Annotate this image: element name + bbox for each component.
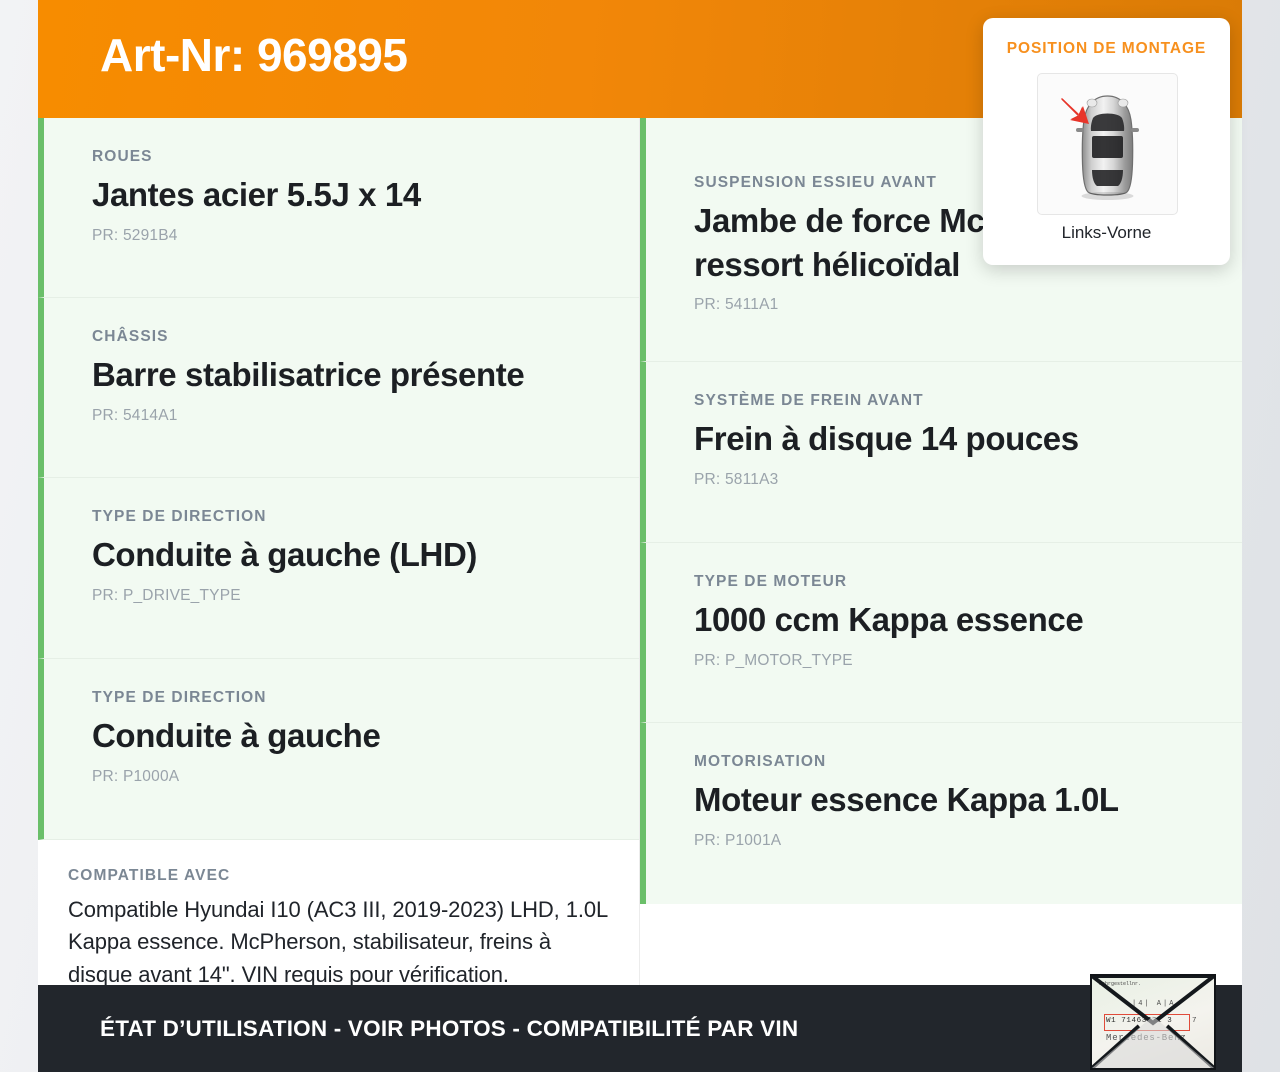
envelope-vin-document-icon: Fahrgestellnr. |4| A|A W1 71463J31 3 7 M… <box>1090 974 1216 1070</box>
spec-pr-code: PR: 5291B4 <box>92 227 613 245</box>
spec-pr-code: PR: 5411A1 <box>694 296 1216 314</box>
spec-pr-code: PR: P1000A <box>92 768 613 786</box>
spec-value: Jantes acier 5.5J x 14 <box>92 173 613 217</box>
position-arrow-icon <box>1061 98 1089 124</box>
rear-window <box>1092 170 1123 186</box>
spec-label: ROUES <box>92 148 613 166</box>
envelope-flap-icon <box>1092 976 1214 1068</box>
spec-value: Barre stabilisatrice présente <box>92 353 613 397</box>
spec-label: MOTORISATION <box>694 753 1216 771</box>
vin-document-background: Fahrgestellnr. |4| A|A W1 71463J31 3 7 M… <box>1092 976 1214 1068</box>
spec-pr-code: PR: P_MOTOR_TYPE <box>694 652 1216 670</box>
spec-label: CHÂSSIS <box>92 328 613 346</box>
page-title: Art-Nr: 969895 <box>100 28 407 82</box>
spec-row: SYSTÈME DE FREIN AVANT Frein à disque 14… <box>640 362 1242 543</box>
spec-label: SYSTÈME DE FREIN AVANT <box>694 392 1216 410</box>
spec-pr-code: PR: 5811A3 <box>694 471 1216 489</box>
footer-banner: ÉTAT D’UTILISATION - VOIR PHOTOS - COMPA… <box>38 985 1242 1072</box>
spec-label: TYPE DE DIRECTION <box>92 689 613 707</box>
roof-panel <box>1092 136 1123 158</box>
spec-value: Frein à disque 14 pouces <box>694 417 1216 461</box>
spec-pr-code: PR: P1001A <box>694 832 1216 850</box>
mirror-left <box>1076 128 1084 132</box>
headlight-left <box>1087 99 1097 107</box>
spec-label: TYPE DE MOTEUR <box>694 573 1216 591</box>
spec-value: Conduite à gauche (LHD) <box>92 533 613 577</box>
spec-value: Conduite à gauche <box>92 714 613 758</box>
spec-row: CHÂSSIS Barre stabilisatrice présente PR… <box>38 298 639 478</box>
spec-label: TYPE DE DIRECTION <box>92 508 613 526</box>
spec-row: TYPE DE DIRECTION Conduite à gauche PR: … <box>38 659 639 840</box>
headlight-right <box>1118 99 1128 107</box>
compatibility-label: COMPATIBLE AVEC <box>68 867 609 885</box>
windshield <box>1091 114 1124 132</box>
spec-row: TYPE DE DIRECTION Conduite à gauche (LHD… <box>38 478 639 659</box>
mounting-position-caption: Links-Vorne <box>983 223 1230 243</box>
product-listing-page: Art-Nr: 969895 ROUES Jantes acier 5.5J x… <box>0 0 1280 1072</box>
car-top-view-icon <box>1037 73 1178 215</box>
car-shadow <box>1082 192 1134 200</box>
spec-pr-code: PR: 5414A1 <box>92 407 613 425</box>
footer-text: ÉTAT D’UTILISATION - VOIR PHOTOS - COMPA… <box>100 1016 798 1042</box>
mirror-right <box>1131 128 1139 132</box>
mounting-position-card: POSITION DE MONTAGE <box>983 18 1230 265</box>
spec-row: MOTORISATION Moteur essence Kappa 1.0L P… <box>640 723 1242 904</box>
mounting-position-title: POSITION DE MONTAGE <box>983 40 1230 58</box>
spec-row: ROUES Jantes acier 5.5J x 14 PR: 5291B4 <box>38 118 639 298</box>
compatibility-text: Compatible Hyundai I10 (AC3 III, 2019-20… <box>68 894 609 991</box>
spec-value: 1000 ccm Kappa essence <box>694 598 1216 642</box>
car-diagram-svg <box>1038 74 1177 214</box>
spec-row: TYPE DE MOTEUR 1000 ccm Kappa essence PR… <box>640 543 1242 723</box>
spec-pr-code: PR: P_DRIVE_TYPE <box>92 587 613 605</box>
spec-value: Moteur essence Kappa 1.0L <box>694 778 1216 822</box>
